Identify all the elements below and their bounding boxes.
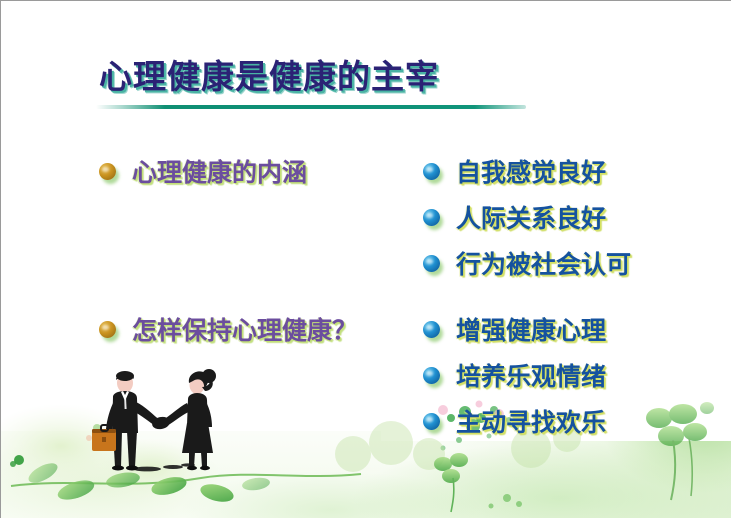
handshake-illustration-icon — [75, 357, 255, 485]
list-item-label: 增强健康心理 — [456, 311, 606, 347]
list-item-right-4[interactable]: 增强健康心理 — [423, 311, 606, 347]
blue-sphere-bullet-icon — [423, 413, 440, 430]
list-item-right-3[interactable]: 行为被社会认可 — [423, 245, 631, 281]
list-item-right-1[interactable]: 自我感觉良好 — [423, 153, 606, 189]
blue-sphere-bullet-icon — [423, 321, 440, 338]
list-item-left-1[interactable]: 心理健康的内涵 — [99, 153, 307, 189]
blue-sphere-bullet-icon — [423, 367, 440, 384]
blue-sphere-bullet-icon — [423, 255, 440, 272]
list-item-right-5[interactable]: 培养乐观情绪 — [423, 357, 606, 393]
presentation-slide: 心理健康是健康的主宰 心理健康的内涵 怎样保持心理健康？ 自我感觉良好 人际关系… — [0, 0, 731, 518]
gold-sphere-bullet-icon — [99, 321, 116, 338]
clover-decoration-icon — [421, 378, 731, 518]
list-item-right-2[interactable]: 人际关系良好 — [423, 199, 606, 235]
gold-sphere-bullet-icon — [99, 163, 116, 180]
blue-sphere-bullet-icon — [423, 209, 440, 226]
slide-title: 心理健康是健康的主宰 — [99, 57, 439, 97]
title-underline-rule — [96, 105, 526, 109]
list-item-left-2[interactable]: 怎样保持心理健康？ — [99, 311, 357, 347]
list-item-label: 主动寻找欢乐 — [456, 403, 606, 439]
list-item-label: 自我感觉良好 — [456, 153, 606, 189]
list-item-label: 培养乐观情绪 — [456, 357, 606, 393]
list-item-label: 行为被社会认可 — [456, 245, 631, 281]
list-item-label: 人际关系良好 — [456, 199, 606, 235]
list-item-right-6[interactable]: 主动寻找欢乐 — [423, 403, 606, 439]
blue-sphere-bullet-icon — [423, 163, 440, 180]
list-item-label: 怎样保持心理健康？ — [132, 311, 357, 347]
list-item-label: 心理健康的内涵 — [132, 153, 307, 189]
